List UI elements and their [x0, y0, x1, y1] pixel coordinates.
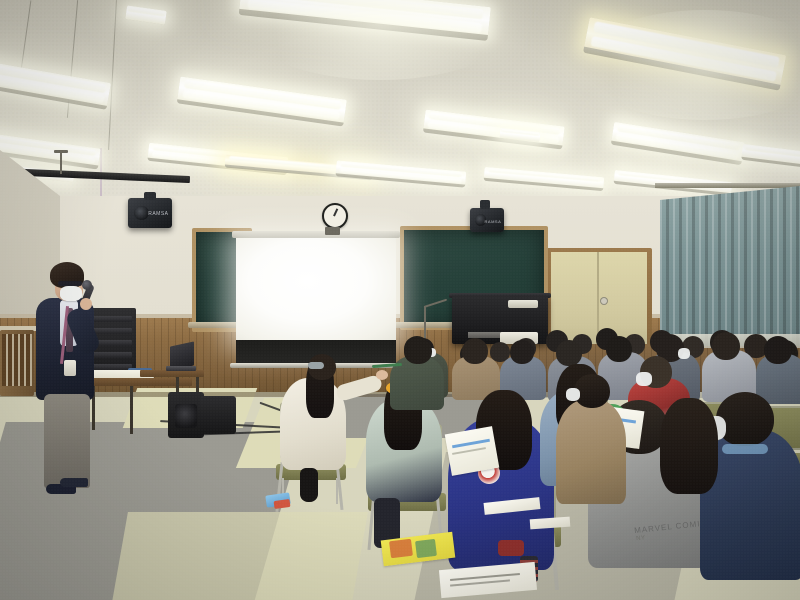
student-head [462, 338, 488, 364]
speaker-mount-left [144, 192, 156, 200]
student-head [716, 392, 774, 446]
floor-flyer-art [389, 539, 413, 559]
wall-clock [322, 203, 348, 229]
face-mask-icon [566, 388, 580, 401]
door-knob[interactable] [601, 298, 607, 304]
pointing-hand [376, 370, 388, 380]
student-head [404, 338, 432, 364]
speaker-mount-right [480, 200, 490, 209]
window-curtain [660, 186, 800, 346]
student-head [510, 340, 534, 364]
rail-hanger-plate [54, 150, 68, 153]
student-head [764, 336, 792, 364]
face-mask-icon [60, 286, 82, 301]
ramsa-brand-text: RAMSA [485, 219, 502, 224]
student-head [712, 332, 740, 360]
projection-screen-case [232, 231, 400, 238]
ramsa-brand-text: RAMSA [148, 211, 168, 217]
av-box-on-table [508, 300, 538, 308]
curtain-rod [655, 183, 800, 188]
presenter-trousers [44, 394, 90, 488]
student-shoe [498, 540, 524, 556]
presenter: presenter speaking [36, 262, 106, 502]
student-boot [300, 468, 318, 502]
face-mask-icon [678, 348, 690, 359]
presentation-table-rear [140, 370, 204, 377]
photo-scene: RAMSA RAMSA [0, 0, 800, 600]
equipment-bag [200, 396, 236, 434]
pa-loudspeaker [168, 392, 204, 438]
student-body [556, 400, 626, 504]
presenter-shoe [60, 478, 88, 487]
floor-flyer-art [415, 539, 437, 558]
ramsa-speaker-left: RAMSA [128, 198, 172, 228]
ramsa-speaker-right: RAMSA [470, 208, 504, 232]
table-leg [130, 386, 133, 434]
microphone-head [82, 280, 92, 290]
stacked-folding-chairs-cart [0, 330, 34, 396]
projection-screen [236, 238, 396, 340]
student-head [606, 336, 632, 362]
presenter-id-badge [64, 360, 76, 376]
presenter-hand [80, 298, 92, 310]
laptop-keyboard[interactable] [166, 366, 196, 371]
student-collar [722, 444, 768, 454]
floor-tile [112, 512, 368, 600]
hair-tie [308, 362, 324, 369]
student-hair [660, 398, 718, 494]
rail-hanger [60, 152, 62, 174]
student-head [556, 340, 582, 366]
face-mask-icon [636, 372, 652, 386]
wall-mounted-sensor-box [325, 227, 340, 235]
